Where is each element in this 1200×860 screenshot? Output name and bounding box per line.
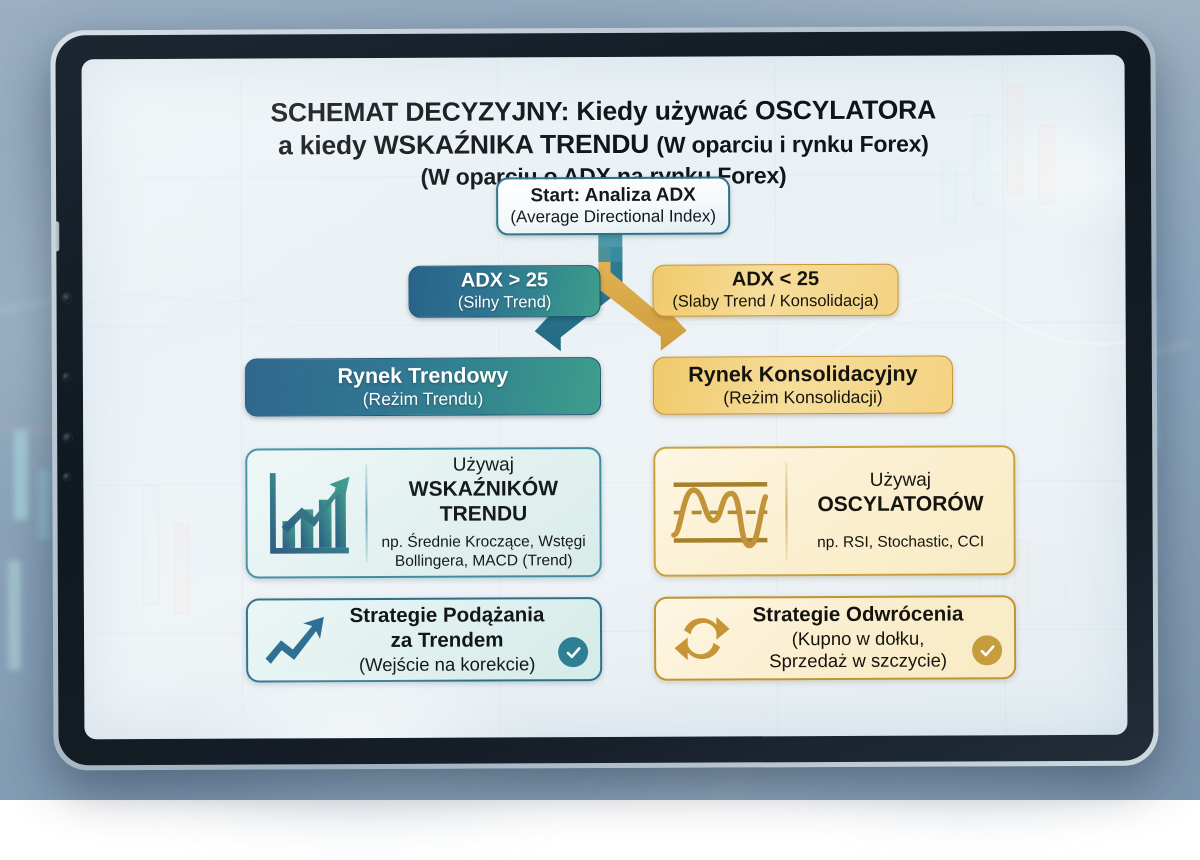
strategy-trend-line-2: za Trendem xyxy=(340,628,554,654)
strategy-range-text: Strategie Odwrócenia (Kupno w dołku, Spr… xyxy=(748,603,972,674)
card-range-line-1: Używaj xyxy=(795,469,1005,493)
card-trend-examples: np. Średnie Kroczące, Wstęgi Bollingera,… xyxy=(376,533,592,572)
refresh-cycle-icon xyxy=(656,608,748,668)
node-regime-trending-market[interactable]: Rynek Trendowy (Reżim Trendu) xyxy=(245,357,601,417)
card-trend-line-2: WSKAŹNIKÓW xyxy=(375,476,591,502)
card-trend-indicators[interactable]: Używaj WSKAŹNIKÓW TRENDU np. Średnie Kro… xyxy=(245,447,602,579)
tablet-bezel: SCHEMAT DECYZYJNY: Kiedy używać OSCYLATO… xyxy=(55,31,1153,766)
node-start-heading: Start: Analiza ADX xyxy=(530,184,696,207)
tablet-screen: SCHEMAT DECYZYJNY: Kiedy używać OSCYLATO… xyxy=(82,55,1128,740)
card-range-examples: np. RSI, Stochastic, CCI xyxy=(796,533,1006,553)
strategy-range-line-2: (Kupno w dołku, xyxy=(748,627,968,650)
card-trend-line-1: Używaj xyxy=(375,454,591,478)
node-regime-range-subtitle: (Reżim Konsolidacji) xyxy=(723,387,883,408)
node-condition-adx-below-25[interactable]: ADX < 25 (Slaby Trend / Konsolidacja) xyxy=(652,264,898,317)
volume-down-button[interactable] xyxy=(63,433,72,442)
node-condition-range-subtitle: (Slaby Trend / Konsolidacja) xyxy=(672,292,878,312)
background-candlestick xyxy=(38,470,50,540)
box-strategy-reversal[interactable]: Strategie Odwrócenia (Kupno w dołku, Spr… xyxy=(654,595,1016,681)
power-button[interactable] xyxy=(54,221,59,251)
check-badge-icon xyxy=(972,635,1002,665)
box-strategy-trend-following[interactable]: Strategie Podążania za Trendem (Wejście … xyxy=(246,597,602,683)
strategy-range-line-1: Strategie Odwrócenia xyxy=(748,603,968,629)
node-condition-range-heading: ADX < 25 xyxy=(732,269,819,293)
front-camera xyxy=(63,373,70,380)
strategy-trend-text: Strategie Podążania za Trendem (Wejście … xyxy=(340,603,558,676)
oscillator-wave-icon xyxy=(655,465,785,558)
node-regime-trend-subtitle: (Reżim Trendu) xyxy=(363,389,484,410)
flowchart-canvas: SCHEMAT DECYZYJNY: Kiedy używać OSCYLATO… xyxy=(82,55,1128,740)
volume-up-button[interactable] xyxy=(63,293,72,302)
background-candlestick xyxy=(8,560,21,670)
trend-arrow-icon xyxy=(248,614,340,666)
node-condition-trend-heading: ADX > 25 xyxy=(461,270,548,294)
node-start-adx[interactable]: Start: Analiza ADX (Average Directional … xyxy=(496,176,730,235)
node-regime-consolidating-market[interactable]: Rynek Konsolidacyjny (Reżim Konsolidacji… xyxy=(653,355,953,414)
card-oscillators[interactable]: Używaj OSCYLATORÓW np. RSI, Stochastic, … xyxy=(653,445,1016,577)
node-condition-trend-subtitle: (Silny Trend) xyxy=(458,293,552,313)
strategy-range-line-3: Sprzedaż w szczycie) xyxy=(748,650,968,673)
card-range-line-2: OSCYLATORÓW xyxy=(795,492,1005,518)
node-condition-adx-above-25[interactable]: ADX > 25 (Silny Trend) xyxy=(408,265,600,318)
card-range-text: Używaj OSCYLATORÓW np. RSI, Stochastic, … xyxy=(787,469,1013,553)
node-regime-range-heading: Rynek Konsolidacyjny xyxy=(688,362,918,388)
microphone xyxy=(63,473,70,480)
strategy-trend-line-1: Strategie Podążania xyxy=(340,603,554,629)
node-regime-trend-heading: Rynek Trendowy xyxy=(337,363,508,389)
background-candlestick xyxy=(14,430,28,520)
card-trend-line-3: TRENDU xyxy=(375,502,591,528)
bar-chart-up-icon xyxy=(247,465,365,562)
card-trend-text: Używaj WSKAŹNIKÓW TRENDU np. Średnie Kro… xyxy=(367,454,600,572)
strategy-trend-line-3: (Wejście na korekcie) xyxy=(340,653,554,676)
check-badge-icon xyxy=(558,637,588,667)
node-start-subtitle: (Average Directional Index) xyxy=(510,207,716,228)
tablet-device: SCHEMAT DECYZYJNY: Kiedy używać OSCYLATO… xyxy=(50,26,1158,771)
